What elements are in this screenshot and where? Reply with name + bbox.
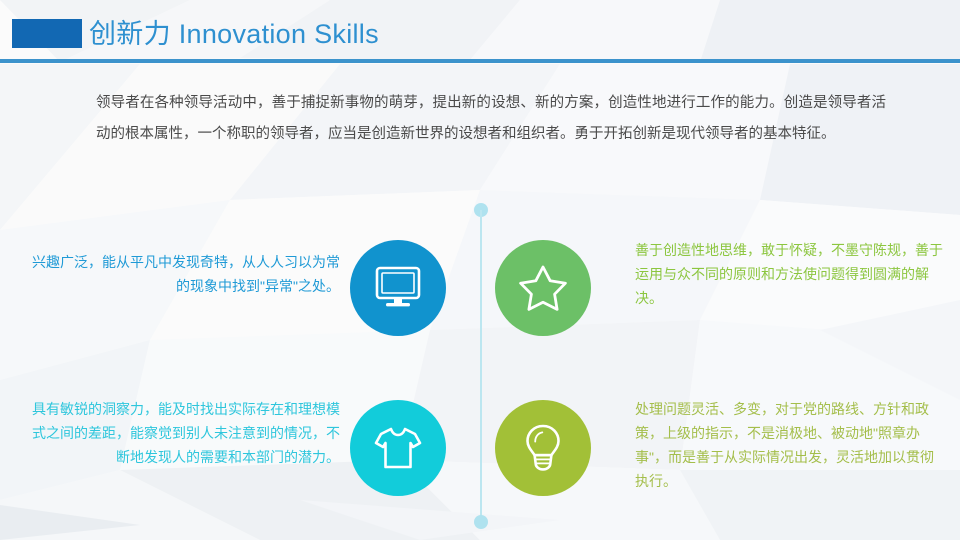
lightbulb-icon (521, 423, 565, 473)
header-accent-block (12, 19, 82, 48)
divider-line (480, 210, 482, 522)
monitor-icon (373, 265, 423, 311)
feature-text-bottom-right: 处理问题灵活、多变，对于党的路线、方针和政策，上级的指示，不是消极地、被动地"照… (635, 397, 947, 493)
feature-item-bottom-right[interactable]: 处理问题灵活、多变，对于党的路线、方针和政策，上级的指示，不是消极地、被动地"照… (495, 400, 960, 510)
center-divider (474, 200, 488, 530)
divider-dot-bottom (474, 515, 488, 529)
icon-circle-tshirt[interactable] (350, 400, 446, 496)
intro-paragraph: 领导者在各种领导活动中，善于捕捉新事物的萌芽，提出新的设想、新的方案，创造性地进… (96, 88, 886, 150)
feature-text-bottom-left: 具有敏锐的洞察力，能及时找出实际存在和理想模式之间的差距，能察觉到别人未注意到的… (28, 397, 340, 469)
feature-text-top-left: 兴趣广泛，能从平凡中发现奇特，从人人习以为常的现象中找到"异常"之处。 (28, 250, 340, 298)
feature-text-top-right: 善于创造性地思维，敢于怀疑，不墨守陈规，善于运用与众不同的原则和方法使问题得到圆… (635, 238, 947, 310)
slide-header: 创新力 Innovation Skills (0, 0, 960, 62)
star-icon (517, 263, 569, 313)
header-divider-rule (0, 59, 960, 63)
icon-circle-star[interactable] (495, 240, 591, 336)
icon-circle-lightbulb[interactable] (495, 400, 591, 496)
feature-item-top-left[interactable]: 兴趣广泛，能从平凡中发现奇特，从人人习以为常的现象中找到"异常"之处。 (0, 240, 460, 350)
page-title: 创新力 Innovation Skills (89, 18, 379, 50)
feature-item-top-right[interactable]: 善于创造性地思维，敢于怀疑，不墨守陈规，善于运用与众不同的原则和方法使问题得到圆… (495, 240, 960, 350)
feature-item-bottom-left[interactable]: 具有敏锐的洞察力，能及时找出实际存在和理想模式之间的差距，能察觉到别人未注意到的… (0, 400, 460, 510)
icon-circle-monitor[interactable] (350, 240, 446, 336)
tshirt-icon (373, 425, 423, 471)
